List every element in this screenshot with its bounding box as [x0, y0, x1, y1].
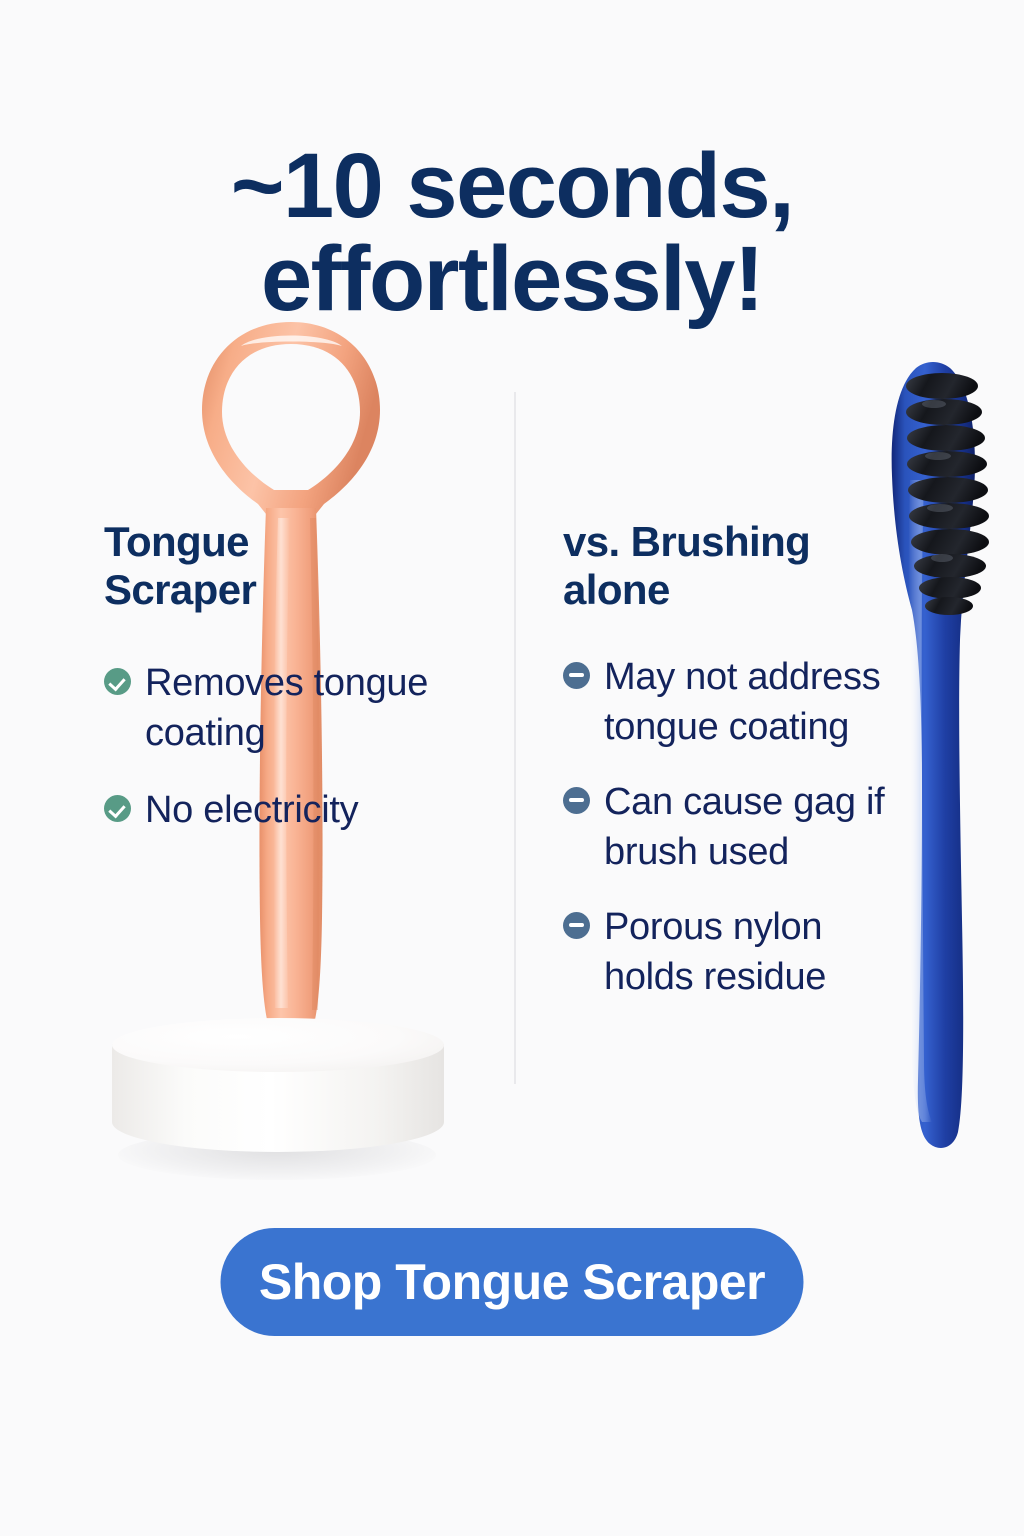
check-circle-icon	[104, 795, 131, 822]
con-text: May not address tongue coating	[604, 652, 913, 753]
pro-text: No electricity	[145, 785, 358, 836]
list-item: Can cause gag if brush used	[563, 777, 913, 878]
con-text: Porous nylon holds residue	[604, 902, 913, 1003]
column-left-title-line-2: Scraper	[104, 566, 256, 613]
column-right-title-line-1: vs. Brushing	[563, 518, 810, 565]
cons-list: May not address tongue coating Can cause…	[563, 652, 913, 1003]
column-right-title: vs. Brushing alone	[563, 518, 913, 614]
column-left-title-line-1: Tongue	[104, 518, 249, 565]
check-circle-icon	[104, 668, 131, 695]
headline-line-1: ~10 seconds,	[0, 140, 1024, 234]
minus-circle-icon	[563, 787, 590, 814]
headline-line-2: effortlessly!	[0, 233, 1024, 327]
promo-canvas: ~10 seconds, effortlessly!	[0, 0, 1024, 1536]
pros-list: Removes tongue coating No electricity	[104, 658, 504, 836]
con-text: Can cause gag if brush used	[604, 777, 913, 878]
list-item: May not address tongue coating	[563, 652, 913, 753]
list-item: No electricity	[104, 785, 504, 836]
minus-circle-icon	[563, 662, 590, 689]
page-title: ~10 seconds, effortlessly!	[0, 140, 1024, 328]
pro-text: Removes tongue coating	[145, 658, 504, 759]
list-item: Porous nylon holds residue	[563, 902, 913, 1003]
column-left-title: Tongue Scraper	[104, 518, 504, 614]
column-right-title-line-2: alone	[563, 566, 670, 613]
list-item: Removes tongue coating	[104, 658, 504, 759]
minus-circle-icon	[563, 912, 590, 939]
column-brushing-alone: vs. Brushing alone May not address tongu…	[563, 518, 913, 1027]
column-tongue-scraper: Tongue Scraper Removes tongue coating No…	[104, 518, 504, 861]
shop-tongue-scraper-button[interactable]: Shop Tongue Scraper	[221, 1228, 804, 1336]
